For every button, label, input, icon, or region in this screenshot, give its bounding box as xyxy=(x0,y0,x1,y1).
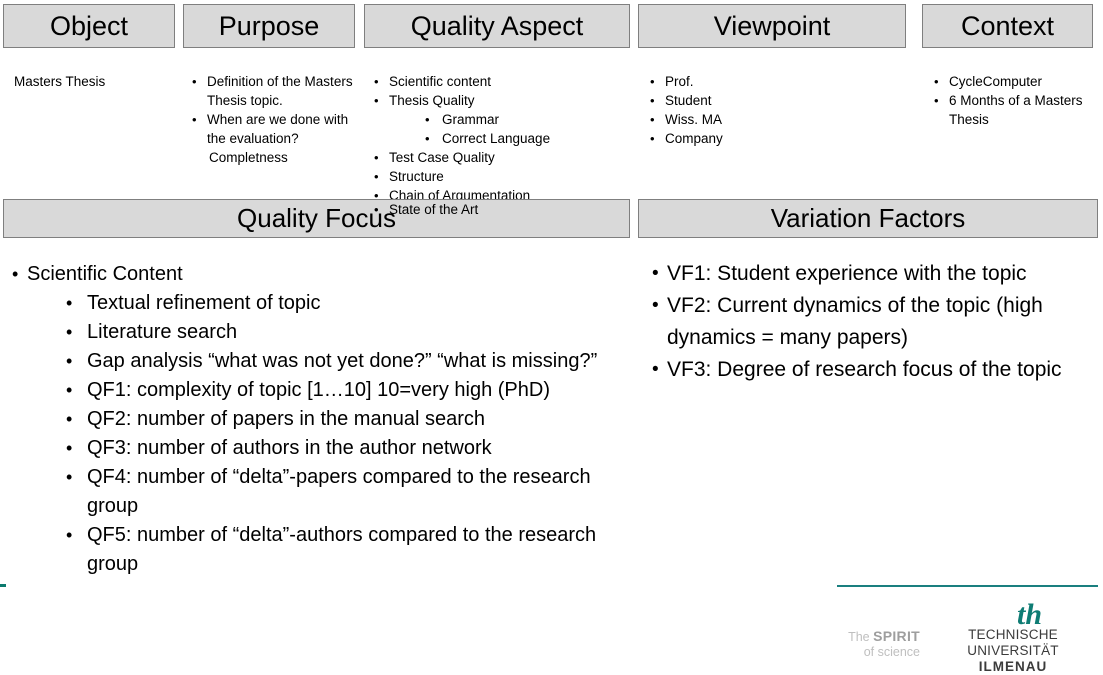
header-object: Object xyxy=(3,4,175,48)
quality-focus-level1-list: • Scientific Content xyxy=(10,260,630,289)
list-item-label: QF1: complexity of topic [1…10] 10=very … xyxy=(87,379,550,401)
header-context-label: Context xyxy=(961,11,1054,42)
header-viewpoint: Viewpoint xyxy=(638,4,906,48)
list-item-label: Literature search xyxy=(87,321,237,343)
header-variation-factors: Variation Factors xyxy=(638,199,1098,238)
list-item-label: QF4: number of “delta”-papers compared t… xyxy=(87,466,591,517)
header-quality-aspect: Quality Aspect xyxy=(364,4,630,48)
list-item: • Thesis Quality xyxy=(372,91,632,110)
list-item-label: Thesis Quality xyxy=(389,93,475,108)
quality-aspect-sublist: • Grammar • Correct Language xyxy=(372,110,632,148)
header-quality-aspect-label: Quality Aspect xyxy=(411,11,584,42)
bullet-icon: • xyxy=(66,521,72,550)
header-variation-factors-label: Variation Factors xyxy=(771,203,966,234)
list-item-label: QF3: number of authors in the author net… xyxy=(87,437,492,459)
list-item: • Scientific Content xyxy=(10,260,630,289)
list-item-label: VF2: Current dynamics of the topic (high… xyxy=(667,294,1043,349)
quality-focus-content: • Scientific Content • Textual refinemen… xyxy=(10,260,630,579)
bullet-icon: • xyxy=(650,91,655,110)
list-item-label: 6 Months of a Masters Thesis xyxy=(949,93,1083,127)
bullet-icon: • xyxy=(652,258,659,290)
list-item: • VF3: Degree of research focus of the t… xyxy=(650,354,1080,386)
list-item: • Wiss. MA xyxy=(648,110,898,129)
list-item-label: Correct Language xyxy=(442,131,550,146)
tu-line-1: TECHNISCHE UNIVERSITÄT xyxy=(928,627,1098,659)
bullet-icon: • xyxy=(374,91,379,110)
purpose-content: • Definition of the Masters Thesis topic… xyxy=(190,72,360,167)
list-item: • Definition of the Masters Thesis topic… xyxy=(190,72,360,110)
bullet-icon: • xyxy=(66,434,72,463)
object-content: Masters Thesis xyxy=(14,72,174,91)
list-item: • CycleComputer xyxy=(932,72,1092,91)
list-item: • State of the Art xyxy=(372,200,632,219)
spirit-the-label: The xyxy=(848,630,873,644)
list-item-label: State of the Art xyxy=(389,202,478,217)
slide-canvas: { "colors": { "plate_fill": "#d9d9d9", "… xyxy=(0,0,1103,666)
list-item: • Scientific content xyxy=(372,72,632,91)
bullet-icon: • xyxy=(934,91,939,110)
list-item-label: Structure xyxy=(389,169,444,184)
bullet-icon: • xyxy=(66,376,72,405)
bullet-icon: • xyxy=(425,110,430,129)
footer-divider xyxy=(837,585,1098,587)
bullet-icon: • xyxy=(652,354,659,386)
list-item-label: Company xyxy=(665,131,723,146)
list-item: • 6 Months of a Masters Thesis xyxy=(932,91,1092,129)
bullet-icon: • xyxy=(374,72,379,91)
object-text: Masters Thesis xyxy=(14,72,174,91)
list-item-label: Student xyxy=(665,93,712,108)
spirit-word: SPIRIT xyxy=(873,628,920,644)
bullet-icon: • xyxy=(650,110,655,129)
list-item-label: VF3: Degree of research focus of the top… xyxy=(667,358,1062,381)
bullet-icon: • xyxy=(650,129,655,148)
viewpoint-content: • Prof. • Student • Wiss. MA • Company xyxy=(648,72,898,148)
list-item: • QF1: complexity of topic [1…10] 10=ver… xyxy=(66,376,630,405)
purpose-continuation: Completness xyxy=(190,148,360,167)
bullet-icon: • xyxy=(652,290,659,322)
bullet-icon: • xyxy=(425,129,430,148)
list-item: • Student xyxy=(648,91,898,110)
spirit-line-1: The SPIRIT xyxy=(820,629,920,645)
bullet-icon: • xyxy=(66,289,72,318)
list-item: • Textual refinement of topic xyxy=(66,289,630,318)
list-item: • Prof. xyxy=(648,72,898,91)
tu-ilmenau-logo: TECHNISCHE UNIVERSITÄT ILMENAU xyxy=(928,627,1098,675)
context-list: • CycleComputer • 6 Months of a Masters … xyxy=(932,72,1092,129)
list-item-label: Grammar xyxy=(442,112,499,127)
quality-aspect-list-bottom: • Test Case Quality • Structure • Chain … xyxy=(372,148,632,205)
list-item: • Structure xyxy=(372,167,632,186)
th-monogram-icon: th xyxy=(1017,600,1042,630)
list-item: • QF3: number of authors in the author n… xyxy=(66,434,630,463)
bullet-icon: • xyxy=(66,463,72,492)
list-item: • VF1: Student experience with the topic xyxy=(650,258,1080,290)
list-item: • Literature search xyxy=(66,318,630,347)
list-item-label: Gap analysis “what was not yet done?” “w… xyxy=(87,350,597,372)
quality-focus-level2-list: • Textual refinement of topic • Literatu… xyxy=(10,289,630,579)
quality-aspect-list-top: • Scientific content • Thesis Quality xyxy=(372,72,632,110)
viewpoint-list: • Prof. • Student • Wiss. MA • Company xyxy=(648,72,898,148)
list-item: • Company xyxy=(648,129,898,148)
list-item: • VF2: Current dynamics of the topic (hi… xyxy=(650,290,1080,354)
list-item: • Test Case Quality xyxy=(372,148,632,167)
list-item: • Grammar xyxy=(425,110,632,129)
quality-aspect-content: • Scientific content • Thesis Quality • … xyxy=(372,72,632,205)
list-item: • QF2: number of papers in the manual se… xyxy=(66,405,630,434)
context-content: • CycleComputer • 6 Months of a Masters … xyxy=(932,72,1092,129)
list-item: • QF5: number of “delta”-authors compare… xyxy=(66,521,630,579)
header-purpose: Purpose xyxy=(183,4,355,48)
header-object-label: Object xyxy=(50,11,128,42)
tu-line-2: ILMENAU xyxy=(928,659,1098,675)
variation-factors-content: • VF1: Student experience with the topic… xyxy=(650,258,1080,386)
list-item: • When are we done with the evaluation? xyxy=(190,110,360,148)
purpose-list: • Definition of the Masters Thesis topic… xyxy=(190,72,360,148)
bullet-icon: • xyxy=(66,405,72,434)
list-item-label: Scientific content xyxy=(389,74,491,89)
list-item-label: When are we done with the evaluation? xyxy=(207,112,348,146)
bullet-icon: • xyxy=(66,347,72,376)
bullet-icon: • xyxy=(374,167,379,186)
list-item-label: Definition of the Masters Thesis topic. xyxy=(207,74,353,108)
bullet-icon: • xyxy=(650,72,655,91)
bullet-icon: • xyxy=(192,72,197,91)
bullet-icon: • xyxy=(374,200,379,219)
quality-aspect-overflow: • State of the Art xyxy=(372,200,632,219)
list-item: • QF4: number of “delta”-papers compared… xyxy=(66,463,630,521)
list-item: • Correct Language xyxy=(425,129,632,148)
variation-factors-list: • VF1: Student experience with the topic… xyxy=(650,258,1080,386)
bullet-icon: • xyxy=(934,72,939,91)
bullet-icon: • xyxy=(192,110,197,129)
list-item-label: Test Case Quality xyxy=(389,150,495,165)
header-viewpoint-label: Viewpoint xyxy=(714,11,831,42)
list-item-label: Wiss. MA xyxy=(665,112,722,127)
quality-aspect-list-overflow: • State of the Art xyxy=(372,200,632,219)
list-item-label: Textual refinement of topic xyxy=(87,292,320,314)
spirit-line-2: of science xyxy=(820,645,920,660)
list-item-label: CycleComputer xyxy=(949,74,1042,89)
left-edge-tick xyxy=(0,584,6,587)
header-purpose-label: Purpose xyxy=(219,11,320,42)
bullet-icon: • xyxy=(374,148,379,167)
bullet-icon: • xyxy=(66,318,72,347)
list-item-label: Prof. xyxy=(665,74,694,89)
list-item-label: VF1: Student experience with the topic xyxy=(667,262,1027,285)
list-item-label: Scientific Content xyxy=(27,263,183,285)
list-item: • Gap analysis “what was not yet done?” … xyxy=(66,347,630,376)
list-item-label: QF2: number of papers in the manual sear… xyxy=(87,408,485,430)
header-context: Context xyxy=(922,4,1093,48)
list-item-label: QF5: number of “delta”-authors compared … xyxy=(87,524,596,575)
bullet-icon: • xyxy=(12,260,18,289)
spirit-of-science-logo: The SPIRIT of science xyxy=(820,629,920,660)
